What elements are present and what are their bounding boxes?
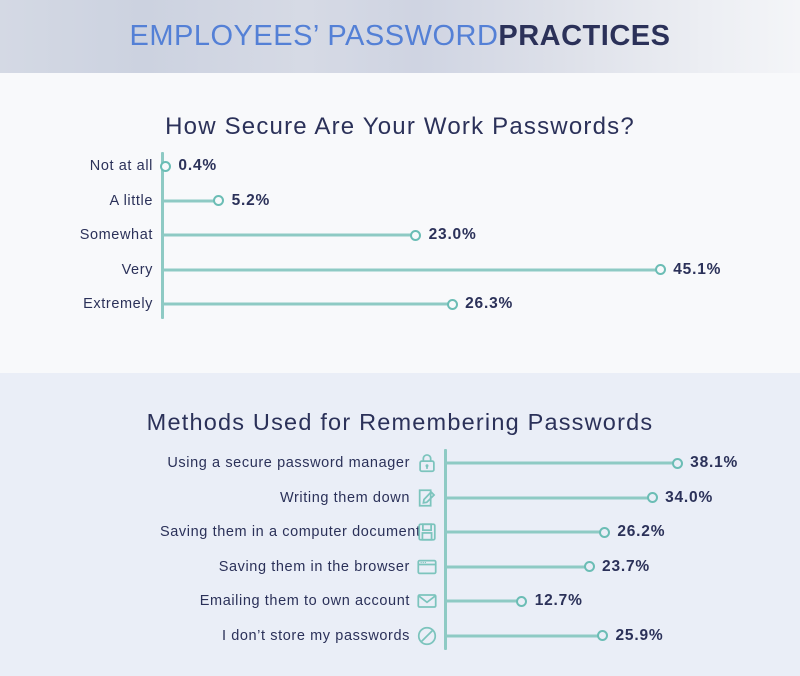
chart-value-label: 45.1%	[673, 261, 721, 279]
chart-row: A little5.2%	[0, 184, 800, 218]
chart-stem	[444, 600, 522, 603]
chart-data-point	[647, 492, 658, 503]
chart-stem	[444, 496, 652, 499]
chart-2-lollipop: Using a secure password manager38.1%Writ…	[0, 436, 800, 663]
chart-1-lollipop: Not at all0.4%A little5.2%Somewhat23.0%V…	[0, 141, 800, 334]
chart-value-label: 12.7%	[535, 592, 583, 610]
chart-row: Writing them down34.0%	[0, 481, 800, 515]
chart-value-label: 38.1%	[690, 454, 738, 472]
chart-row: Emailing them to own account12.7%	[0, 584, 800, 618]
chart-stem	[444, 565, 589, 568]
chart-value-label: 23.0%	[429, 226, 477, 244]
padlock-icon	[416, 452, 438, 474]
chart-data-point	[655, 264, 666, 275]
chart-row: Saving them in a computer document26.2%	[0, 515, 800, 549]
chart-row: Saving them in the browser23.7%	[0, 550, 800, 584]
chart-data-point	[410, 230, 421, 241]
chart-value-label: 26.2%	[617, 523, 665, 541]
section-password-methods: Methods Used for Remembering Passwords U…	[0, 373, 800, 676]
chart-row: Not at all0.4%	[0, 149, 800, 183]
infographic-page: EMPLOYEES’ PASSWORDPRACTICES How Secure …	[0, 0, 800, 676]
chart-data-point	[160, 161, 171, 172]
chart-stem	[161, 268, 660, 271]
chart-stem	[444, 462, 677, 465]
chart-row-label: Saving them in a computer document	[160, 524, 410, 540]
chart-value-label: 34.0%	[665, 489, 713, 507]
chart-stem	[161, 234, 416, 237]
chart-row-label: Using a secure password manager	[160, 455, 410, 471]
chart-stem	[161, 303, 452, 306]
prohibited-icon	[416, 625, 438, 647]
chart-row: Very45.1%	[0, 253, 800, 287]
browser-window-icon	[416, 556, 438, 578]
chart-data-point	[516, 596, 527, 607]
chart-row: Using a secure password manager38.1%	[0, 446, 800, 480]
chart-data-point	[584, 561, 595, 572]
chart-row: Extremely26.3%	[0, 287, 800, 321]
section-password-security: How Secure Are Your Work Passwords? Not …	[0, 73, 800, 373]
chart-stem	[444, 531, 604, 534]
chart-value-label: 23.7%	[602, 558, 650, 576]
chart-data-point	[213, 195, 224, 206]
chart-row-label: Extremely	[33, 296, 153, 312]
page-title-part2: PRACTICES	[498, 20, 670, 52]
chart-row-label: Emailing them to own account	[160, 593, 410, 609]
chart-row-label: I don’t store my passwords	[160, 628, 410, 644]
chart-value-label: 25.9%	[616, 627, 664, 645]
chart-data-point	[672, 458, 683, 469]
chart-row-label: Writing them down	[160, 490, 410, 506]
chart-row: Somewhat23.0%	[0, 218, 800, 252]
chart-row: I don’t store my passwords25.9%	[0, 619, 800, 653]
floppy-disk-icon	[416, 521, 438, 543]
chart-data-point	[447, 299, 458, 310]
chart-value-label: 26.3%	[465, 295, 513, 313]
chart-row-label: Saving them in the browser	[160, 559, 410, 575]
chart-row-label: Not at all	[33, 158, 153, 174]
chart-2-title: Methods Used for Remembering Passwords	[0, 373, 800, 436]
chart-data-point	[599, 527, 610, 538]
chart-row-label: A little	[33, 193, 153, 209]
chart-row-label: Very	[33, 262, 153, 278]
chart-value-label: 0.4%	[178, 157, 217, 175]
header-banner: EMPLOYEES’ PASSWORDPRACTICES	[0, 0, 800, 73]
note-pencil-icon	[416, 487, 438, 509]
chart-data-point	[597, 630, 608, 641]
page-title: EMPLOYEES’ PASSWORDPRACTICES	[130, 20, 671, 53]
envelope-icon	[416, 590, 438, 612]
page-title-part1: EMPLOYEES’ PASSWORD	[130, 20, 499, 52]
chart-value-label: 5.2%	[232, 192, 271, 210]
chart-stem	[161, 199, 219, 202]
chart-row-label: Somewhat	[33, 227, 153, 243]
chart-1-title: How Secure Are Your Work Passwords?	[0, 73, 800, 141]
chart-stem	[444, 634, 603, 637]
